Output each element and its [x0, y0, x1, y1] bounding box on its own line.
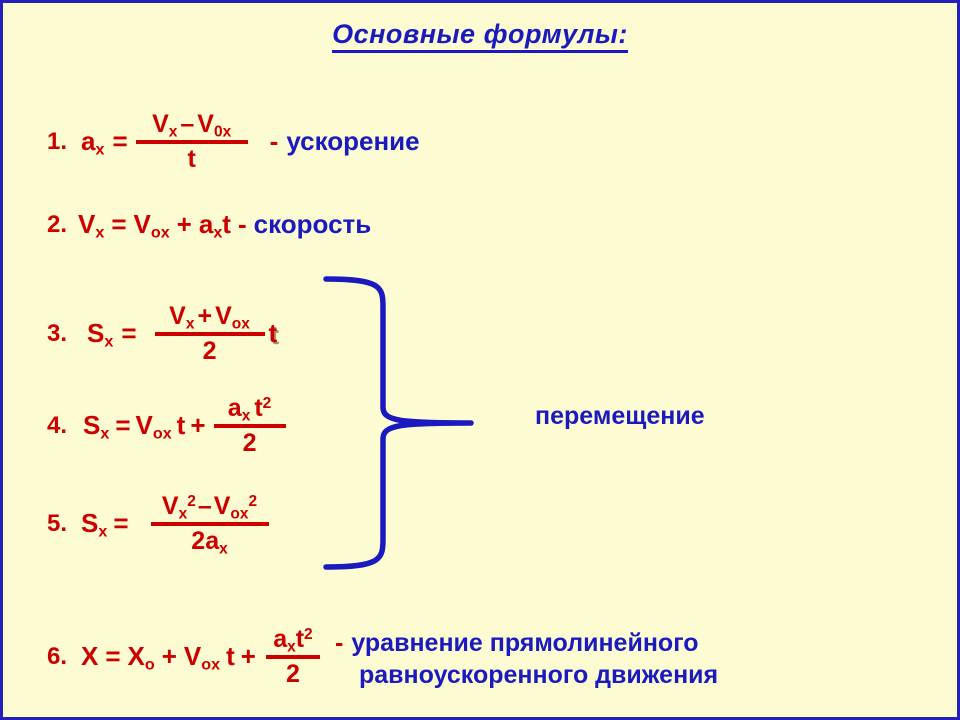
formula-row-2: 2. Vx = Vox + axt - скорость — [47, 209, 371, 240]
f5-vox-sub: ox — [230, 505, 248, 522]
formula-number-3: 3. — [47, 320, 67, 348]
formula-6-term0: Xo — [128, 641, 155, 672]
formula-number-6: 6. — [47, 643, 67, 671]
formula-1-numerator: Vx–V0x — [148, 111, 235, 137]
formula-1-fraction-bar — [136, 140, 248, 144]
f4-a-sub: x — [242, 407, 251, 424]
formula-6-lhs: X — [81, 641, 98, 672]
f4-s: S — [83, 410, 100, 440]
formula-4-plus: + — [190, 410, 205, 441]
num-v0: V — [197, 110, 214, 138]
f2-t: t — [222, 209, 231, 239]
f5-num-operator: – — [196, 492, 214, 520]
formula-3-fraction: Vx+Vox 2 — [155, 303, 265, 365]
f2-a-sub: x — [213, 224, 222, 242]
f4-t: t — [254, 394, 262, 422]
f2-vox: V — [134, 209, 151, 239]
formula-row-3: 3. Sx = Vx+Vox 2 t — [47, 303, 277, 365]
f3-num-vox: V — [215, 302, 232, 330]
page-title: Основные формулы: — [3, 19, 957, 50]
f2-a: a — [199, 209, 213, 239]
formula-6-term1-t: t — [226, 641, 235, 672]
formula-1-lhs-subscript: x — [95, 141, 104, 159]
formula-5-fraction: Vx2–Vox2 2ax — [151, 493, 269, 555]
formula-2-equals: = — [111, 209, 126, 240]
formula-4-numerator: axt2 — [224, 395, 275, 421]
formula-6-dash: - — [335, 629, 343, 657]
formula-6-fraction-bar — [266, 655, 320, 659]
formula-1-label: ускорение — [286, 126, 419, 157]
formula-number-1: 1. — [47, 128, 67, 156]
formula-5-equals: = — [113, 508, 128, 539]
f4-t-power: 2 — [263, 395, 272, 412]
f6-t: t — [296, 625, 304, 653]
f5-s: S — [81, 508, 98, 538]
f6-x0-sub: o — [145, 656, 155, 674]
f3-s-sub: x — [104, 333, 113, 351]
f3-num-operator: + — [194, 302, 215, 330]
formula-row-6: 6. X = Xo + Vox t + axt2 2 — [47, 626, 320, 688]
formula-3-multiplier: t — [269, 318, 278, 349]
formula-1-denominator: t — [183, 146, 199, 172]
formula-5-numerator: Vx2–Vox2 — [158, 493, 261, 519]
formula-number-4: 4. — [47, 412, 67, 440]
formula-2-dash: - — [238, 209, 247, 240]
formula-1-lhs: ax — [81, 126, 104, 157]
f2-vox-sub: ox — [151, 224, 170, 242]
formula-6-fraction: axt2 2 — [266, 626, 320, 688]
formula-2-rhs1: Vox — [134, 209, 170, 240]
formula-4-term1-t: t — [177, 410, 186, 441]
formula-1-lhs-symbol: a — [81, 126, 95, 156]
formula-5-fraction-bar — [151, 522, 269, 526]
formula-row-1: 1. ax = Vx–V0x t - ускорение — [47, 111, 420, 173]
formula-6-plus-2: + — [241, 641, 256, 672]
f4-a: a — [228, 394, 242, 422]
formula-4-term1: Vox — [136, 410, 172, 441]
formula-6-label-line2: равноускоренного движения — [359, 659, 718, 691]
formula-1-equals: = — [112, 126, 127, 157]
formula-6-denominator: 2 — [282, 661, 304, 687]
formula-2-expression: Vx — [78, 209, 104, 240]
f5-den-sub: x — [219, 541, 228, 558]
formula-row-4: 4. Sx = Vox t + axt2 2 — [47, 395, 286, 457]
f4-s-sub: x — [100, 425, 109, 443]
f5-den: 2a — [191, 527, 219, 555]
formula-4-equals: = — [115, 410, 130, 441]
formula-1-fraction: Vx–V0x t — [136, 111, 248, 173]
formula-4-fraction-bar — [214, 424, 286, 428]
f5-v-power: 2 — [187, 493, 196, 510]
formula-3-numerator: Vx+Vox — [165, 303, 254, 329]
formula-6-label-line1: уравнение прямолинейного — [351, 629, 698, 657]
formula-6-term1: Vox — [184, 641, 220, 672]
f3-s: S — [87, 318, 104, 348]
f6-vox: V — [184, 641, 201, 671]
formula-2-rhs2: axt — [199, 209, 231, 240]
slide-canvas: Основные формулы: 1. ax = Vx–V0x t - уск… — [0, 0, 960, 720]
formula-6-numerator: axt2 — [269, 626, 316, 652]
f6-t-power: 2 — [304, 626, 313, 643]
formula-number-5: 5. — [47, 510, 67, 538]
f6-x0: X — [128, 641, 145, 671]
f5-v-sub: x — [179, 505, 188, 522]
formula-3-equals: = — [121, 318, 136, 349]
formula-4-lhs: Sx — [83, 410, 109, 441]
formula-6-equals: = — [105, 641, 120, 672]
num-v0-sub: 0x — [214, 123, 231, 140]
f5-vox: V — [214, 492, 231, 520]
f6-a-sub: x — [287, 638, 296, 655]
f6-a: a — [273, 625, 287, 653]
formula-3-fraction-bar — [155, 332, 265, 336]
formula-3-denominator: 2 — [199, 338, 221, 364]
f2-v: V — [78, 209, 95, 239]
f3-num-v: V — [169, 302, 186, 330]
f4-vox-sub: ox — [153, 425, 172, 443]
f2-v-sub: x — [95, 224, 104, 242]
formula-4-denominator: 2 — [239, 430, 261, 456]
num-operator: – — [177, 110, 197, 138]
formula-1-dash: - — [270, 126, 279, 157]
formula-5-lhs: Sx — [81, 508, 107, 539]
f3-num-vox-sub: ox — [232, 315, 250, 332]
formula-3-lhs: Sx — [87, 318, 113, 349]
f5-s-sub: x — [98, 523, 107, 541]
formula-2-label: скорость — [254, 209, 372, 240]
formula-number-2: 2. — [47, 211, 67, 239]
formula-row-5: 5. Sx = Vx2–Vox2 2ax — [47, 493, 269, 555]
formula-5-denominator: 2ax — [187, 528, 231, 554]
f4-vox: V — [136, 410, 153, 440]
brace-label-peremeshchenie: перемещение — [535, 402, 705, 431]
f6-vox-sub: ox — [201, 656, 220, 674]
page-title-text: Основные формулы: — [332, 19, 628, 53]
curly-brace-icon — [321, 273, 476, 573]
formula-4-fraction: axt2 2 — [214, 395, 286, 457]
f5-vox-power: 2 — [249, 493, 258, 510]
formula-6-plus-1: + — [162, 641, 177, 672]
formula-6-label: -уравнение прямолинейного равноускоренно… — [335, 627, 718, 691]
num-v: V — [152, 110, 169, 138]
f5-v: V — [162, 492, 179, 520]
formula-2-plus: + — [177, 209, 192, 240]
